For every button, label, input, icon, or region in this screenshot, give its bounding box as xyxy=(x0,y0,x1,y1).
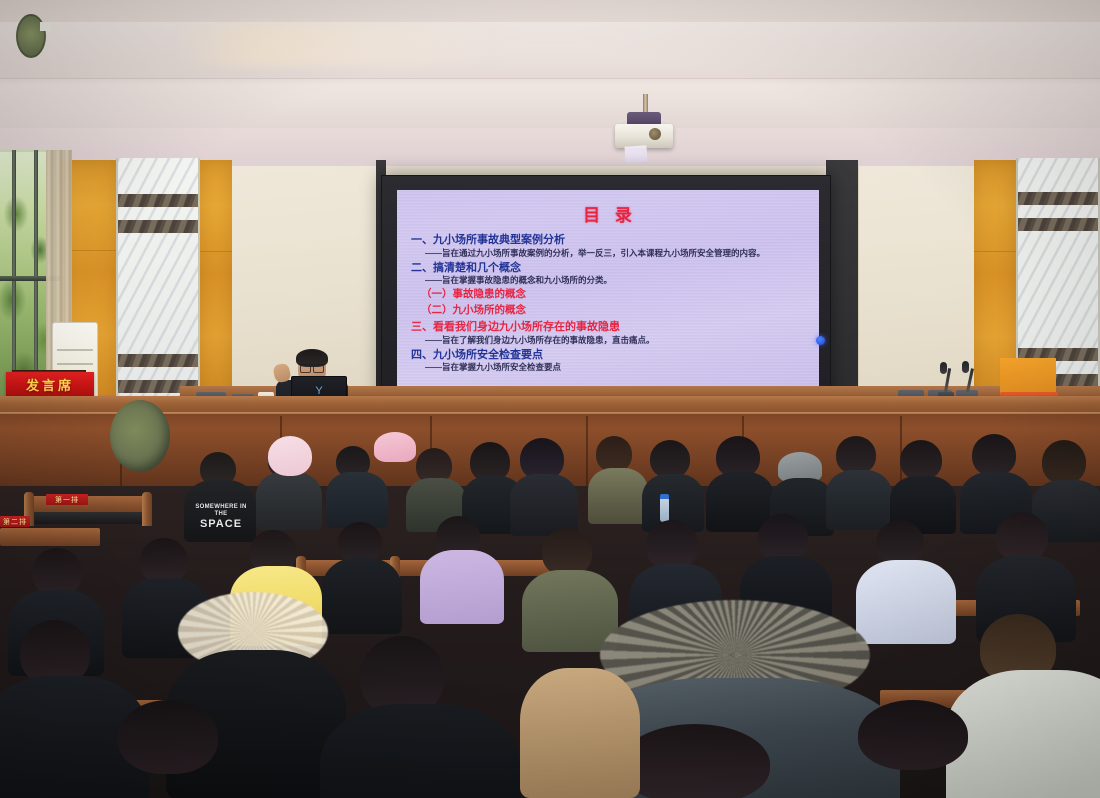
window-mullion xyxy=(34,150,38,400)
slide-heading-1: 一、九小场所事故典型案例分析 xyxy=(411,233,809,248)
slide-sub-1: ——旨在通过九小场所事故案例的分析，举一反三，引入本课程九小场所安全管理的内容。 xyxy=(411,248,809,259)
wood-column-left-inner xyxy=(200,160,232,412)
marble-band xyxy=(1018,192,1098,205)
body xyxy=(256,472,322,530)
tan-coat xyxy=(520,668,640,798)
body xyxy=(322,558,402,634)
bench-row[interactable] xyxy=(0,528,100,546)
head xyxy=(118,700,218,774)
light-blue-puffer xyxy=(856,560,956,644)
glasses-icon xyxy=(300,364,324,370)
lecture-hall-scene: 目 录 一、九小场所事故典型案例分析 ——旨在通过九小场所事故案例的分析，举一反… xyxy=(0,0,1100,798)
slide-heading-2: 二、搞清楚和几个概念 xyxy=(411,261,809,276)
slide-item-2-1: （一）事故隐患的概念 xyxy=(411,288,809,302)
projector-label-tag xyxy=(624,145,647,162)
body xyxy=(510,474,578,536)
body xyxy=(326,472,388,528)
microphone-head-icon xyxy=(940,362,947,374)
slide-heading-4: 四、九小场所安全检查要点 xyxy=(411,348,809,363)
seat-row-label-2: 第二排 xyxy=(0,516,30,527)
marble-column-left xyxy=(116,158,200,424)
bench-seat-pad xyxy=(30,512,146,524)
head xyxy=(900,440,942,480)
head xyxy=(32,548,82,596)
marble-band xyxy=(1018,218,1098,231)
seat-row-label-1: 第一排 xyxy=(46,494,88,505)
olive-jacket xyxy=(522,570,618,652)
decorative-fan-center xyxy=(16,14,46,58)
decorative-fan xyxy=(110,400,170,472)
water-bottle xyxy=(660,498,669,522)
head xyxy=(646,520,698,570)
bottle-cap xyxy=(660,494,669,499)
head xyxy=(858,700,968,770)
stage-panel-divider xyxy=(586,416,588,494)
slide-heading-3: 三、看看我们身边九小场所存在的事故隐患 xyxy=(411,320,809,335)
presentation-cursor-dot[interactable] xyxy=(816,336,825,345)
head xyxy=(650,440,690,478)
marble-band xyxy=(118,354,198,367)
marble-band xyxy=(118,220,198,233)
body xyxy=(826,470,892,530)
body xyxy=(320,704,520,798)
ac-slat xyxy=(57,349,93,351)
projector-lens-icon xyxy=(649,128,661,140)
head xyxy=(996,512,1048,562)
slide-sub-2: ——旨在掌握事故隐患的概念和九小场所的分类。 xyxy=(411,275,809,286)
slide-title: 目 录 xyxy=(411,201,809,226)
podium-banner: 发言席 xyxy=(6,372,94,396)
projection-screen: 目 录 一、九小场所事故典型案例分析 ——旨在通过九小场所事故案例的分析，举一反… xyxy=(397,190,819,398)
ceiling-beam-upper xyxy=(0,22,1100,78)
pink-beanie xyxy=(268,436,312,476)
ac-slat xyxy=(57,363,93,365)
head xyxy=(1042,440,1086,484)
head xyxy=(758,514,808,562)
ceiling-light-glow xyxy=(170,24,500,66)
body xyxy=(588,468,648,524)
head xyxy=(972,434,1016,476)
jacket-graphic: SOMEWHERE IN THE SPACE xyxy=(194,504,248,530)
white-puffer-coat xyxy=(946,670,1100,798)
ceiling-beam-lower xyxy=(0,84,1100,128)
bench-post xyxy=(142,492,152,526)
slide-sub-3: ——旨在了解我们身边九小场所存在的事故隐患，直击痛点。 xyxy=(411,335,809,346)
slide-sub-4: ——旨在掌握九小场所安全检查要点 xyxy=(411,362,809,373)
head xyxy=(542,528,592,576)
head xyxy=(620,724,770,798)
fan-label-tag xyxy=(40,22,51,31)
head xyxy=(596,436,632,472)
microphone-head-icon xyxy=(962,361,969,373)
pink-cap xyxy=(374,432,416,462)
head xyxy=(836,436,876,474)
marble-band xyxy=(118,194,198,207)
lavender-coat xyxy=(420,550,504,624)
slide-item-2-2: （二）九小场所的概念 xyxy=(411,304,809,318)
window-mullion xyxy=(12,150,16,400)
